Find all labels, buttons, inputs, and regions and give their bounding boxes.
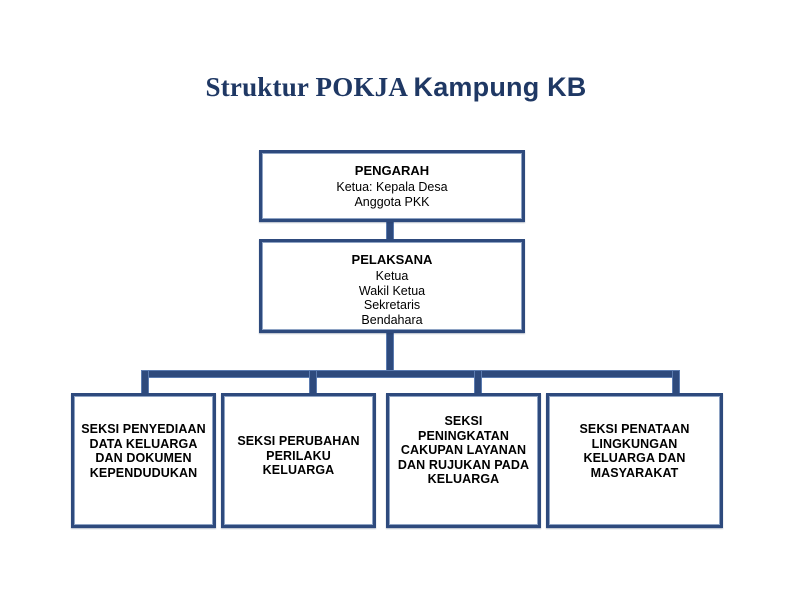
node-pelaksana-line-2: Wakil Ketua: [359, 284, 425, 299]
page-title: Struktur POKJA Kampung KB: [0, 72, 792, 103]
node-seksi-4-line-1: SEKSI PENATAAN: [549, 422, 720, 437]
node-seksi-4-line-3: KELUARGA DAN: [549, 451, 720, 466]
connector-drop-seksi-3: [474, 370, 482, 395]
connector-drop-seksi-2: [309, 370, 317, 395]
connector-distribution-bar: [141, 370, 680, 378]
node-pelaksana[interactable]: PELAKSANA Ketua Wakil Ketua Sekretaris B…: [259, 239, 525, 333]
node-seksi-4-line-4: MASYARAKAT: [549, 466, 720, 481]
node-seksi-perubahan-perilaku[interactable]: SEKSI PERUBAHAN PERILAKU KELUARGA: [221, 393, 376, 528]
page-title-sans-part: Kampung KB: [414, 72, 587, 102]
page-title-serif-part: Struktur POKJA: [205, 72, 413, 102]
node-seksi-peningkatan-cakupan[interactable]: SEKSI PENINGKATAN CAKUPAN LAYANAN DAN RU…: [386, 393, 541, 528]
node-seksi-penyediaan-data[interactable]: SEKSI PENYEDIAAN DATA KELUARGA DAN DOKUM…: [71, 393, 216, 528]
node-pengarah[interactable]: PENGARAH Ketua: Kepala Desa Anggota PKK: [259, 150, 525, 222]
node-seksi-2-line-2: PERILAKU KELUARGA: [224, 449, 373, 478]
connector-drop-seksi-1: [141, 370, 149, 395]
node-seksi-penataan-lingkungan[interactable]: SEKSI PENATAAN LINGKUNGAN KELUARGA DAN M…: [546, 393, 723, 528]
node-pelaksana-line-3: Sekretaris: [364, 298, 420, 313]
node-seksi-4-line-2: LINGKUNGAN: [549, 437, 720, 452]
node-seksi-3-line-5: KELUARGA: [389, 472, 538, 487]
node-seksi-3-line-2: PENINGKATAN: [389, 429, 538, 444]
node-seksi-1-line-2: DATA KELUARGA: [74, 437, 213, 452]
node-pelaksana-line-4: Bendahara: [361, 313, 422, 328]
node-seksi-1-line-4: KEPENDUDUKAN: [74, 466, 213, 481]
node-seksi-2-line-1: SEKSI PERUBAHAN: [224, 434, 373, 449]
node-pengarah-title: PENGARAH: [355, 163, 429, 178]
node-pelaksana-line-1: Ketua: [376, 269, 409, 284]
node-seksi-3-line-4: DAN RUJUKAN PADA: [389, 458, 538, 473]
node-pelaksana-title: PELAKSANA: [352, 252, 433, 267]
connector-pengarah-to-pelaksana: [386, 220, 394, 241]
node-pengarah-line-1: Ketua: Kepala Desa: [336, 180, 447, 195]
node-pengarah-line-2: Anggota PKK: [354, 195, 429, 210]
node-seksi-3-line-1: SEKSI: [389, 414, 538, 429]
connector-drop-seksi-4: [672, 370, 680, 395]
node-seksi-1-line-3: DAN DOKUMEN: [74, 451, 213, 466]
org-chart-canvas: Struktur POKJA Kampung KB PENGARAH Ketua…: [0, 0, 792, 612]
node-seksi-1-line-1: SEKSI PENYEDIAAN: [74, 422, 213, 437]
node-seksi-3-line-3: CAKUPAN LAYANAN: [389, 443, 538, 458]
